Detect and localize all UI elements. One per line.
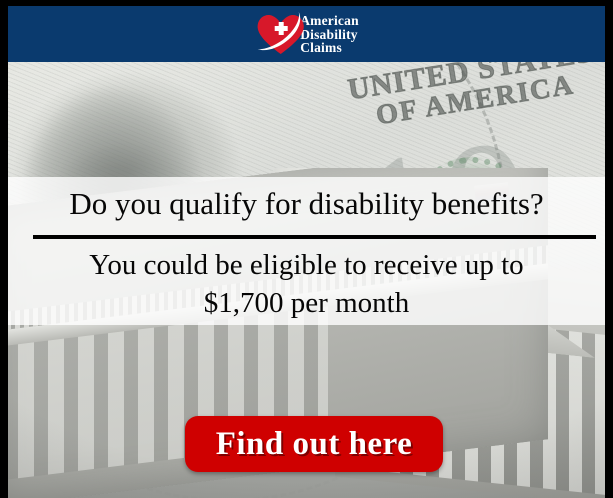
find-out-here-button[interactable]: Find out here: [185, 416, 443, 472]
ad-inner-content: American Disability Claims UNITED STATES…: [8, 6, 605, 498]
subheadline-row-2: $1,700 per month: [8, 284, 605, 322]
logo-line-2: Disability: [300, 28, 359, 42]
brand-logo[interactable]: American Disability Claims: [254, 11, 359, 57]
divider-rule: [33, 235, 596, 239]
logo-line-3: Claims: [300, 41, 359, 55]
subheadline: You could be eligible to receive up to $…: [8, 246, 605, 322]
headline: Do you qualify for disability benefits?: [8, 182, 605, 226]
ad-header: American Disability Claims: [8, 6, 605, 62]
subheadline-row-1: You could be eligible to receive up to: [89, 249, 523, 281]
heart-cross-logo-icon: [254, 11, 306, 57]
logo-line-1: American: [300, 14, 359, 28]
banner-ad: American Disability Claims UNITED STATES…: [0, 0, 613, 498]
brand-logo-text: American Disability Claims: [300, 13, 359, 55]
